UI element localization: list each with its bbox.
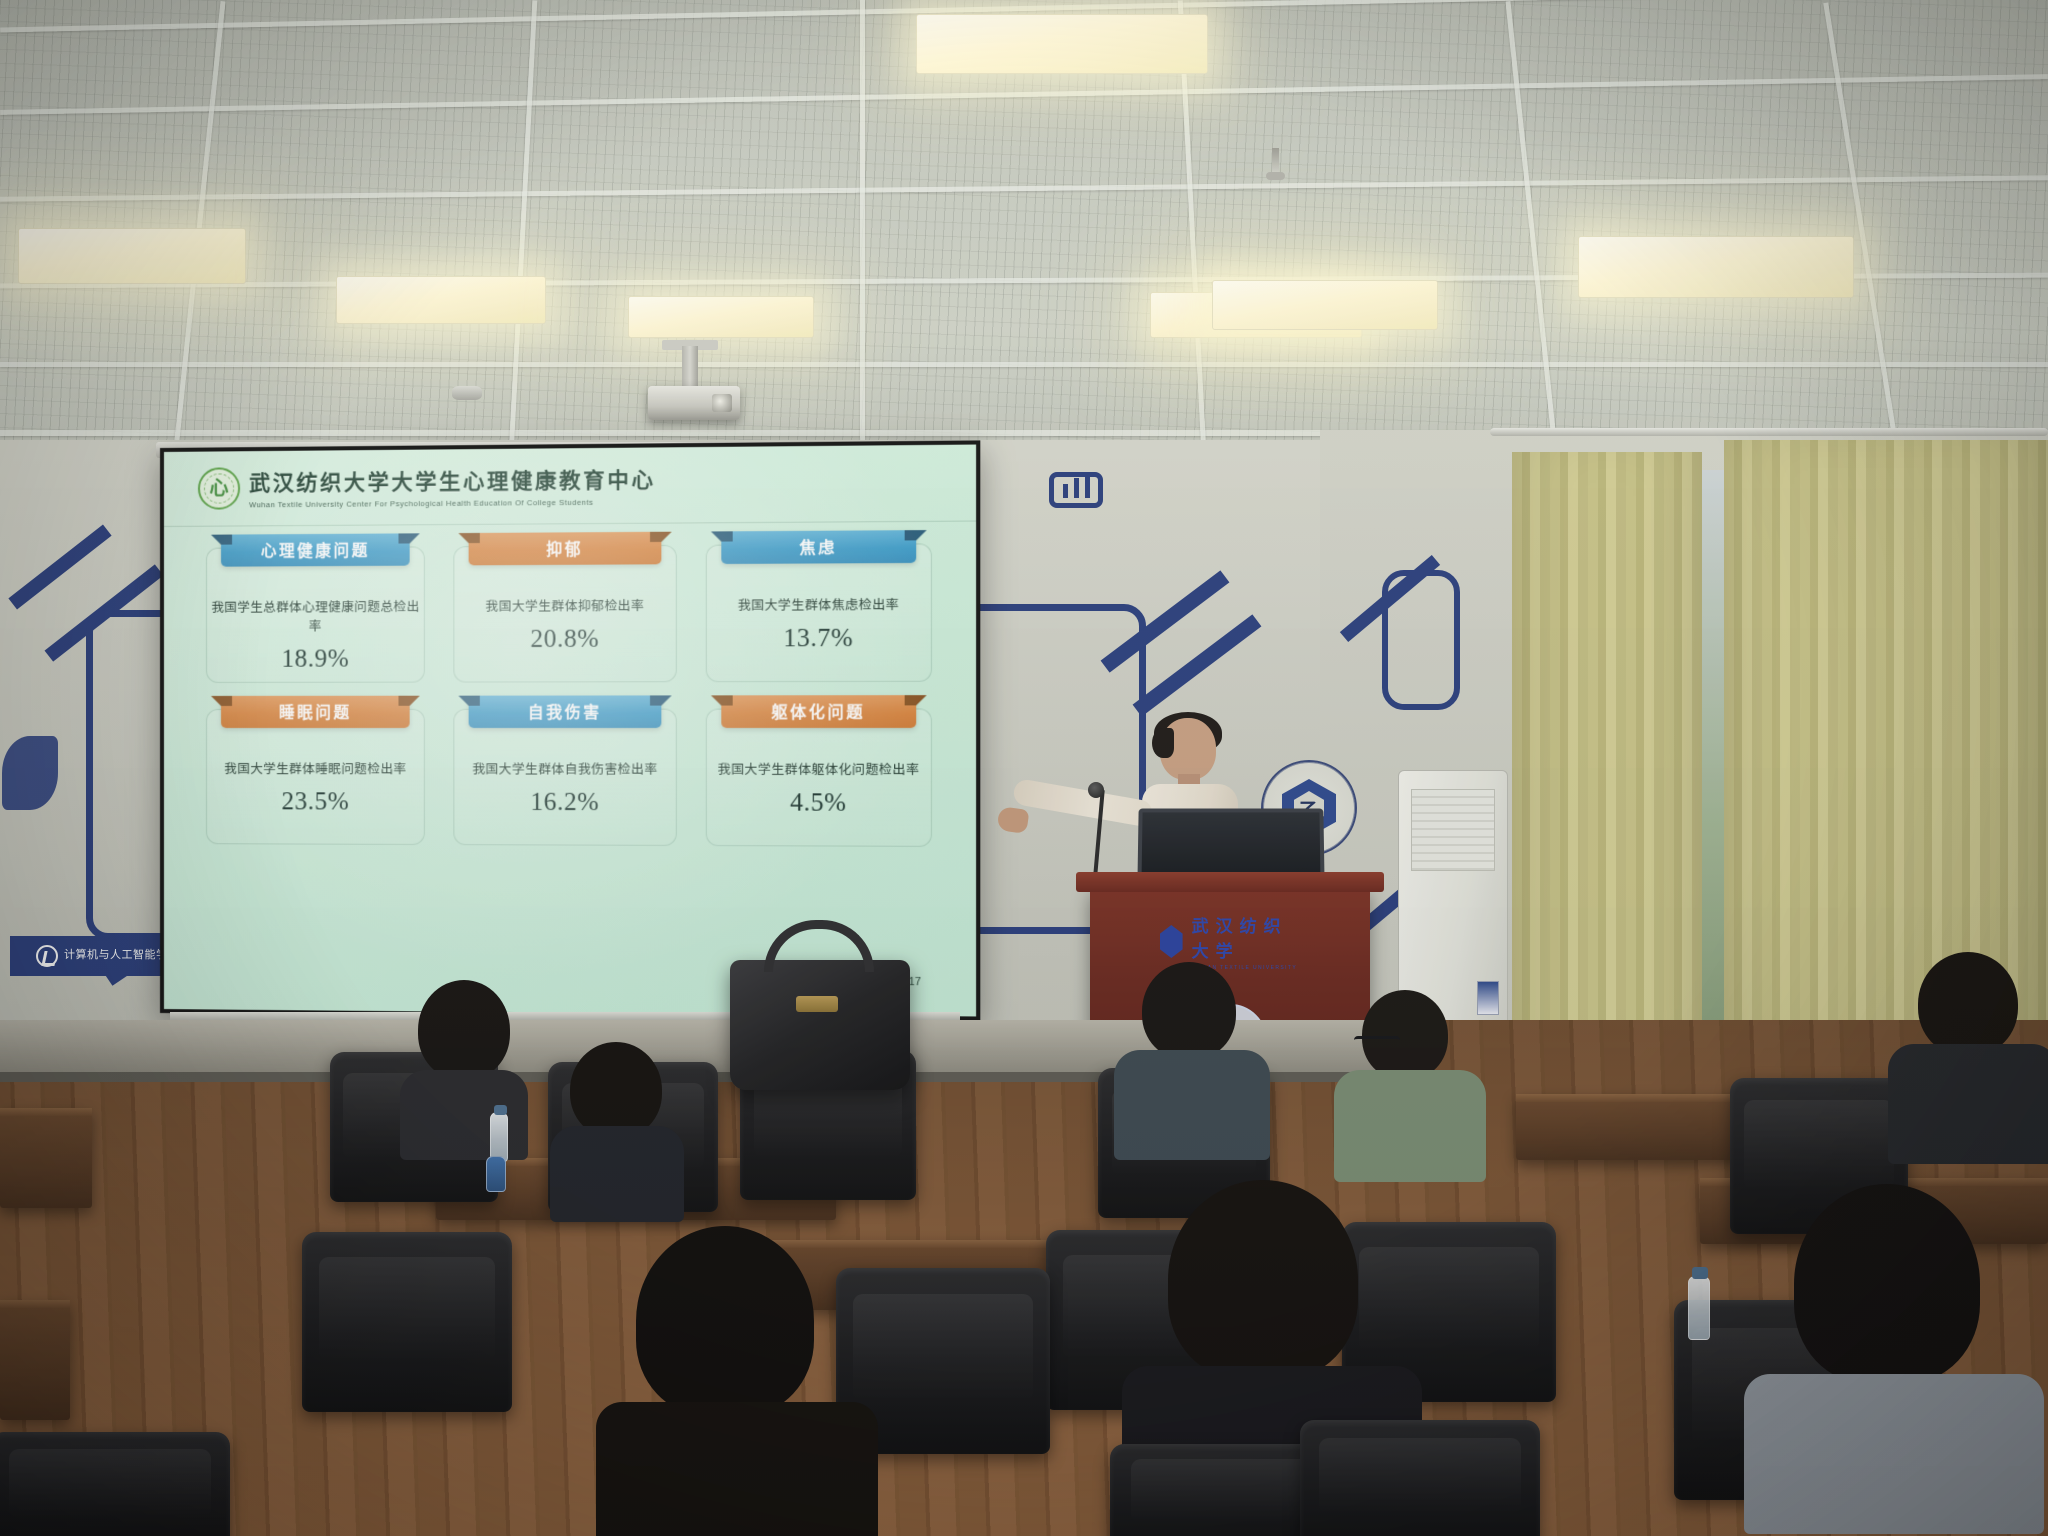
stat-card: 自我伤害 我国大学生群体自我伤害检出率 16.2%	[454, 709, 677, 846]
audience-head	[418, 980, 510, 1080]
stat-card-ribbon: 睡眠问题	[221, 696, 410, 728]
stat-card-grid: 心理健康问题 我国学生总群体心理健康问题总检出率 18.9% 抑郁 我国大学生群…	[206, 543, 932, 847]
glasses-icon	[1354, 1036, 1400, 1049]
handbag-clasp	[796, 996, 838, 1012]
desk	[0, 1300, 70, 1420]
college-mark-icon	[36, 945, 58, 967]
chair[interactable]	[1300, 1420, 1540, 1536]
podium-top-surface	[1076, 872, 1384, 892]
audience-head	[1362, 990, 1448, 1080]
slide-title-zh: 武汉纺织大学大学生心理健康教育中心	[249, 464, 656, 498]
audience-body	[1888, 1044, 2048, 1164]
slide-title-en: Wuhan Textile University Center For Psyc…	[249, 497, 656, 509]
desk-surface	[0, 1108, 92, 1116]
audience-head	[570, 1042, 662, 1138]
stat-card-ribbon: 自我伤害	[469, 695, 661, 728]
curtain-rail	[1490, 428, 2048, 436]
ceiling-light-panel	[1212, 280, 1438, 330]
handbag	[730, 960, 910, 1090]
wall-graphic-figure	[2, 736, 58, 810]
audience-head	[1142, 962, 1236, 1060]
stat-card: 抑郁 我国大学生群体抑郁检出率 20.8%	[454, 545, 677, 683]
audience-body	[400, 1070, 528, 1160]
water-bottle	[1688, 1276, 1710, 1340]
stat-card-description: 我国大学生群体躯体化问题检出率	[706, 758, 930, 778]
chair[interactable]	[0, 1432, 230, 1536]
ceiling-light-panel	[1578, 236, 1854, 298]
wall-graphic-frame-small	[1382, 570, 1460, 710]
audience-head	[1168, 1180, 1358, 1380]
gooseneck-microphone	[1088, 782, 1104, 798]
ceiling-grid-line	[860, 0, 865, 470]
bar-chart-icon	[1049, 472, 1103, 508]
desk	[0, 1108, 92, 1208]
logo-glyph: 心	[209, 479, 228, 498]
stat-card-ribbon: 焦虑	[721, 530, 916, 564]
psychology-center-logo-icon: 心	[198, 467, 240, 509]
projector-lens	[712, 394, 732, 412]
stat-card-ribbon: 心理健康问题	[221, 533, 410, 566]
podium-name-zh: 武汉纺织大学	[1192, 912, 1300, 962]
presenter-hair-side	[1152, 728, 1174, 758]
audience-body	[1114, 1050, 1270, 1160]
stat-card: 心理健康问题 我国学生总群体心理健康问题总检出率 18.9%	[206, 546, 425, 683]
stat-card-description: 我国大学生群体抑郁检出率	[455, 595, 676, 615]
podium-hex-logo-icon	[1160, 925, 1183, 958]
ceiling-light-panel	[628, 296, 814, 338]
stat-card: 睡眠问题 我国大学生群体睡眠问题检出率 23.5%	[206, 709, 425, 845]
stat-card-description: 我国学生总群体心理健康问题总检出率	[207, 596, 424, 635]
ac-vent	[1411, 789, 1495, 871]
slide-header: 心 武汉纺织大学大学生心理健康教育中心 Wuhan Textile Univer…	[198, 464, 656, 510]
stat-card-ribbon: 抑郁	[469, 532, 661, 566]
desk-surface	[0, 1300, 70, 1308]
audience-body	[1744, 1374, 2044, 1534]
stat-card-description: 我国大学生群体焦虑检出率	[706, 594, 930, 614]
ceiling	[0, 0, 2048, 470]
ceiling-light-panel	[916, 14, 1208, 74]
stat-card-description: 我国大学生群体睡眠问题检出率	[207, 758, 424, 777]
projector-mount-arm	[682, 346, 698, 390]
stat-card-value: 23.5%	[207, 788, 424, 817]
audience-head	[1794, 1184, 1980, 1384]
audience-body	[596, 1402, 878, 1536]
ceiling-grid-line	[0, 362, 2048, 367]
bottle-cap	[1692, 1267, 1708, 1279]
audience-body	[1334, 1070, 1486, 1182]
audience-body	[550, 1126, 684, 1222]
stat-card-value: 16.2%	[455, 789, 676, 818]
stat-card-ribbon: 躯体化问题	[721, 695, 916, 728]
slide-header-divider	[164, 521, 976, 527]
stat-card: 躯体化问题 我国大学生群体躯体化问题检出率 4.5%	[705, 708, 931, 846]
ceiling-light-panel	[336, 276, 546, 324]
stat-card: 焦虑 我国大学生群体焦虑检出率 13.7%	[705, 543, 931, 682]
stat-card-value: 20.8%	[455, 625, 676, 654]
stat-card-value: 18.9%	[207, 645, 424, 674]
fire-sprinkler-icon	[1272, 148, 1279, 174]
stat-card-value: 13.7%	[706, 624, 930, 653]
ceiling-light-panel	[18, 228, 246, 284]
audience-head	[1918, 952, 2018, 1056]
water-bottle	[490, 1112, 508, 1162]
bottle-cap	[494, 1105, 507, 1115]
audience-head	[636, 1226, 814, 1416]
chair[interactable]	[302, 1232, 512, 1412]
fire-sprinkler-head	[1266, 172, 1285, 180]
lecture-hall-scene: 计算机与人工智能学院 心 武汉纺织大学大学生心理健康教育中心 Wuhan Tex…	[0, 0, 2048, 1536]
water-bottle	[486, 1156, 506, 1192]
ac-label-sticker	[1477, 981, 1499, 1015]
stat-card-value: 4.5%	[706, 789, 930, 818]
smoke-detector-icon	[452, 386, 482, 400]
stat-card-description: 我国大学生群体自我伤害检出率	[455, 758, 676, 778]
